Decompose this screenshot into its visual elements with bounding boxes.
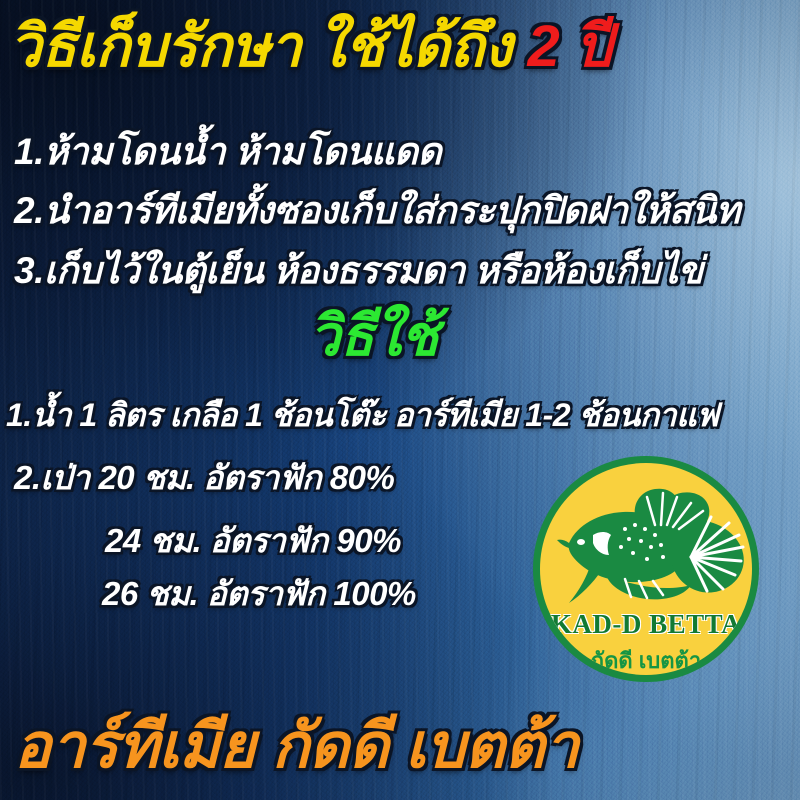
brand-logo: KAD-D BETTA กัดดี เบตต้า [533, 456, 759, 682]
page-title-main: วิธีเก็บรักษา ใช้ได้ถึง [9, 14, 527, 79]
page-title: วิธีเก็บรักษา ใช้ได้ถึง 2 ปี [9, 18, 611, 76]
logo-brand-name-th: กัดดี เบตต้า [540, 643, 752, 678]
usage-step-1: 1.น้ำ 1 ลิตร เกลือ 1 ช้อนโต๊ะ อาร์ทีเมีย… [6, 399, 718, 431]
logo-brand-name-en: KAD-D BETTA [540, 609, 752, 640]
usage-section-heading: วิธีใช้ [309, 308, 438, 364]
storage-step-1: 1.ห้ามโดนน้ำ ห้ามโดนแดด [14, 133, 441, 170]
usage-step-4: 26 ชม. อัตราฟัก 100% [102, 577, 416, 610]
usage-step-2: 2.เป่า 20 ชม. อัตราฟัก 80% [14, 461, 394, 494]
page-title-duration: 2 ปี [527, 14, 611, 79]
storage-step-2: 2.นำอาร์ทีเมียทั้งซองเก็บใส่กระปุกปิดฝาใ… [14, 192, 740, 229]
promo-poster: วิธีเก็บรักษา ใช้ได้ถึง 2 ปี 1.ห้ามโดนน้… [0, 0, 800, 800]
usage-step-3: 24 ชม. อัตราฟัก 90% [105, 524, 401, 557]
betta-fish-icon [551, 485, 751, 605]
product-banner: อาร์ทีเมีย กัดดี เบตต้า [14, 716, 579, 778]
storage-step-3: 3.เก็บไว้ในตู้เย็น ห้องธรรมดา หรือห้องเก… [14, 252, 703, 289]
